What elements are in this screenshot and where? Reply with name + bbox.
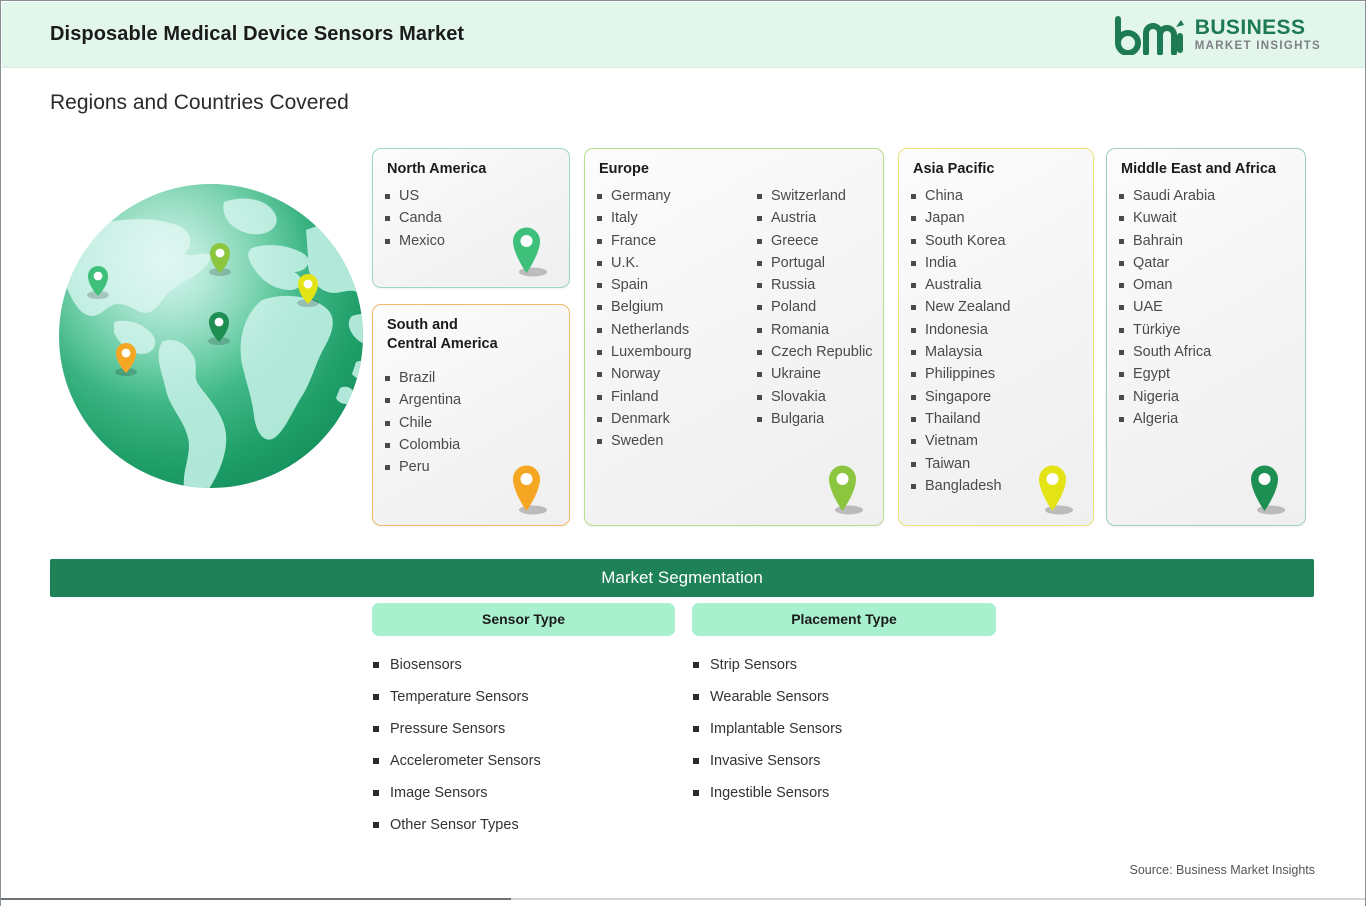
country-item: Bulgaria (755, 408, 873, 430)
source-attribution: Source: Business Market Insights (1130, 863, 1316, 877)
region-title: South and Central America (387, 316, 559, 353)
country-item: Spain (595, 274, 755, 296)
country-item: New Zealand (909, 296, 1010, 318)
region-country-column: US Canda Mexico (383, 185, 445, 252)
region-country-column: China Japan South Korea India Australia … (909, 185, 1010, 497)
country-item: Egypt (1117, 363, 1215, 385)
country-item: Ukraine (755, 363, 873, 385)
country-list-europe-col1: Germany Italy France U.K. Spain Belgium … (595, 185, 755, 453)
country-item: Mexico (383, 230, 445, 252)
country-item: Romania (755, 319, 873, 341)
map-pin-icon-europe (821, 459, 867, 519)
segmentation-item: Accelerometer Sensors (372, 750, 541, 782)
region-card-europe: Europe Germany Italy France U.K. Spain B… (584, 148, 884, 526)
country-item: South Africa (1117, 341, 1215, 363)
country-item: Colombia (383, 434, 461, 456)
map-pin-icon-north-america (505, 221, 551, 281)
country-item: Qatar (1117, 252, 1215, 274)
country-list-europe-col2: Switzerland Austria Greece Portugal Russ… (755, 185, 873, 430)
country-item: Indonesia (909, 319, 1010, 341)
country-item: Italy (595, 207, 755, 229)
region-card-north-america: North America US Canda Mexico (372, 148, 570, 288)
region-country-column: Brazil Argentina Chile Colombia Peru (383, 367, 461, 478)
country-item: Argentina (383, 389, 461, 411)
country-item: Luxembourg (595, 341, 755, 363)
globe-pin-south-america (115, 343, 137, 376)
region-card-middle-east-africa: Middle East and Africa Saudi Arabia Kuwa… (1106, 148, 1306, 526)
region-title: Europe (599, 160, 873, 179)
region-country-column: Switzerland Austria Greece Portugal Russ… (755, 185, 873, 453)
logo-primary-text: BUSINESS (1195, 17, 1321, 38)
country-item: Austria (755, 207, 873, 229)
map-pin-icon-south-central-america (505, 459, 551, 519)
country-item: Sweden (595, 430, 755, 452)
country-item: Norway (595, 363, 755, 385)
country-item: Denmark (595, 408, 755, 430)
country-item: Malaysia (909, 341, 1010, 363)
country-item: U.K. (595, 252, 755, 274)
segmentation-group-label: Placement Type (692, 603, 996, 636)
country-item: Canda (383, 207, 445, 229)
region-card-asia-pacific: Asia Pacific China Japan South Korea Ind… (898, 148, 1094, 526)
section-title: Regions and Countries Covered (50, 91, 349, 115)
country-list-middle-east-africa: Saudi Arabia Kuwait Bahrain Qatar Oman U… (1117, 185, 1215, 430)
country-item: Philippines (909, 363, 1010, 385)
segmentation-item: Strip Sensors (692, 654, 842, 686)
logo-wordmark: BUSINESS MARKET INSIGHTS (1195, 17, 1321, 53)
country-item: Peru (383, 456, 461, 478)
region-title: Asia Pacific (913, 160, 1083, 179)
country-item: Oman (1117, 274, 1215, 296)
country-item: Bahrain (1117, 230, 1215, 252)
country-item: Saudi Arabia (1117, 185, 1215, 207)
country-item: Vietnam (909, 430, 1010, 452)
region-title-line-1: South and (387, 317, 458, 333)
country-item: Singapore (909, 386, 1010, 408)
segmentation-item: Image Sensors (372, 782, 541, 814)
segmentation-list-sensor-type: Biosensors Temperature Sensors Pressure … (372, 654, 541, 846)
bottom-divider-light (511, 898, 1366, 900)
segmentation-item: Other Sensor Types (372, 814, 541, 846)
infographic-page: Disposable Medical Device Sensors Market… (0, 0, 1366, 906)
country-list-south-central-america: Brazil Argentina Chile Colombia Peru (383, 367, 461, 478)
country-item: Czech Republic (755, 341, 873, 363)
segmentation-item: Temperature Sensors (372, 686, 541, 718)
country-item: Poland (755, 296, 873, 318)
segmentation-group-header-placement-type: Placement Type (692, 603, 996, 636)
country-item: UAE (1117, 296, 1215, 318)
country-item: Nigeria (1117, 386, 1215, 408)
country-item: India (909, 252, 1010, 274)
country-item: Switzerland (755, 185, 873, 207)
country-item: Chile (383, 412, 461, 434)
country-item: Kuwait (1117, 207, 1215, 229)
country-item: Türkiye (1117, 319, 1215, 341)
region-country-column: Saudi Arabia Kuwait Bahrain Qatar Oman U… (1117, 185, 1215, 430)
map-pin-icon-asia-pacific (1031, 459, 1077, 519)
globe-pin-middle-east-africa (208, 312, 230, 345)
logo-secondary-text: MARKET INSIGHTS (1195, 41, 1321, 53)
country-item: Belgium (595, 296, 755, 318)
country-item: South Korea (909, 230, 1010, 252)
country-item: Taiwan (909, 453, 1010, 475)
country-item: Japan (909, 207, 1010, 229)
country-item: US (383, 185, 445, 207)
map-pin-icon-middle-east-africa (1243, 459, 1289, 519)
company-logo: BUSINESS MARKET INSIGHTS (1112, 13, 1321, 57)
market-segmentation-bar: Market Segmentation (50, 559, 1314, 597)
country-item: Australia (909, 274, 1010, 296)
globe-icon (56, 176, 366, 506)
globe-pin-asia-pacific (297, 274, 319, 307)
segmentation-item: Wearable Sensors (692, 686, 842, 718)
country-item: Thailand (909, 408, 1010, 430)
country-list-north-america: US Canda Mexico (383, 185, 445, 252)
region-title-line-2: Central America (387, 336, 498, 352)
segmentation-item: Biosensors (372, 654, 541, 686)
segmentation-item: Implantable Sensors (692, 718, 842, 750)
world-globe-illustration (56, 176, 366, 506)
country-item: Algeria (1117, 408, 1215, 430)
page-title: Disposable Medical Device Sensors Market (50, 23, 464, 46)
country-item: France (595, 230, 755, 252)
country-list-asia-pacific: China Japan South Korea India Australia … (909, 185, 1010, 497)
region-title: Middle East and Africa (1121, 160, 1295, 179)
segmentation-group-label: Sensor Type (372, 603, 675, 636)
segmentation-item: Ingestible Sensors (692, 782, 842, 814)
country-item: Slovakia (755, 386, 873, 408)
country-item: Germany (595, 185, 755, 207)
segmentation-item: Pressure Sensors (372, 718, 541, 750)
segmentation-list-placement-type: Strip Sensors Wearable Sensors Implantab… (692, 654, 842, 814)
country-item: Bangladesh (909, 475, 1010, 497)
bottom-divider-dark (1, 898, 511, 900)
region-country-column: Germany Italy France U.K. Spain Belgium … (595, 185, 755, 453)
bmi-logo-icon (1112, 15, 1186, 55)
country-item: Greece (755, 230, 873, 252)
country-item: Brazil (383, 367, 461, 389)
country-item: Portugal (755, 252, 873, 274)
country-item: Finland (595, 386, 755, 408)
country-item: China (909, 185, 1010, 207)
segmentation-item: Invasive Sensors (692, 750, 842, 782)
page-header: Disposable Medical Device Sensors Market… (2, 2, 1366, 68)
country-item: Russia (755, 274, 873, 296)
market-segmentation-label: Market Segmentation (50, 568, 1314, 588)
region-title: North America (387, 160, 559, 179)
segmentation-group-header-sensor-type: Sensor Type (372, 603, 675, 636)
globe-pin-europe (209, 243, 231, 276)
country-item: Netherlands (595, 319, 755, 341)
globe-pin-north-america (87, 266, 109, 299)
region-card-south-central-america: South and Central America Brazil Argenti… (372, 304, 570, 526)
